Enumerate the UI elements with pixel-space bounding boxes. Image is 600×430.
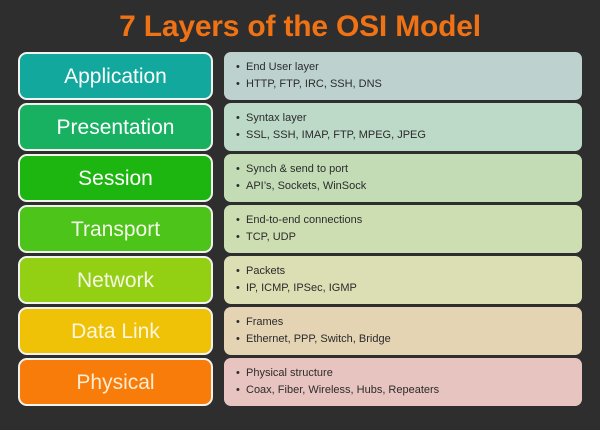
layer-bullet-text: IP, ICMP, IPSec, IGMP [246,282,357,296]
bullet-dot-icon: • [236,214,246,228]
layer-spacer [213,256,224,304]
layer-bullet: •End-to-end connections [236,214,572,228]
layer-description-panel: •Syntax layer•SSL, SSH, IMAP, FTP, MPEG,… [224,103,582,151]
osi-layer-row: Transport•End-to-end connections•TCP, UD… [18,205,582,253]
layer-name-box-network[interactable]: Network [18,256,213,304]
osi-layer-row: Presentation•Syntax layer•SSL, SSH, IMAP… [18,103,582,151]
layer-bullet-text: End-to-end connections [246,214,362,228]
layer-description-panel: •End-to-end connections•TCP, UDP [224,205,582,253]
layer-name-box-application[interactable]: Application [18,52,213,100]
layer-spacer [213,205,224,253]
layer-name-box-session[interactable]: Session [18,154,213,202]
layer-bullet-text: Syntax layer [246,112,307,126]
layer-name-box-presentation[interactable]: Presentation [18,103,213,151]
layer-name-label: Physical [76,372,154,393]
osi-layer-row: Session•Synch & send to port•API’s, Sock… [18,154,582,202]
layer-name-label: Session [78,168,153,189]
layer-name-label: Application [64,66,167,87]
osi-layer-row: Application•End User layer•HTTP, FTP, IR… [18,52,582,100]
layer-name-label: Transport [71,219,160,240]
layer-name-box-data-link[interactable]: Data Link [18,307,213,355]
layer-bullet-text: API’s, Sockets, WinSock [246,180,366,194]
bullet-dot-icon: • [236,282,246,296]
layer-bullet-text: Synch & send to port [246,163,348,177]
bullet-dot-icon: • [236,384,246,398]
layer-description-panel: •End User layer•HTTP, FTP, IRC, SSH, DNS [224,52,582,100]
layer-name-label: Data Link [71,321,160,342]
bullet-dot-icon: • [236,316,246,330]
layer-name-box-transport[interactable]: Transport [18,205,213,253]
osi-model-poster: 7 Layers of the OSI Model Application•En… [0,0,600,430]
osi-layer-row: Physical•Physical structure•Coax, Fiber,… [18,358,582,406]
layer-description-panel: •Synch & send to port•API’s, Sockets, Wi… [224,154,582,202]
layer-bullet-text: Coax, Fiber, Wireless, Hubs, Repeaters [246,384,439,398]
layer-bullet: •TCP, UDP [236,231,572,245]
layer-bullet-text: Frames [246,316,283,330]
layer-bullet: •End User layer [236,61,572,75]
bullet-dot-icon: • [236,180,246,194]
layer-spacer [213,307,224,355]
layer-description-panel: •Packets•IP, ICMP, IPSec, IGMP [224,256,582,304]
layer-bullet: •Packets [236,265,572,279]
bullet-dot-icon: • [236,78,246,92]
layer-bullet-text: End User layer [246,61,319,75]
bullet-dot-icon: • [236,163,246,177]
layer-name-label: Presentation [57,117,175,138]
layer-bullet: •Ethernet, PPP, Switch, Bridge [236,333,572,347]
bullet-dot-icon: • [236,61,246,75]
layer-bullet: •API’s, Sockets, WinSock [236,180,572,194]
layer-bullet: •Synch & send to port [236,163,572,177]
layer-bullet-text: Ethernet, PPP, Switch, Bridge [246,333,391,347]
layer-bullet: •Syntax layer [236,112,572,126]
layer-bullet: •SSL, SSH, IMAP, FTP, MPEG, JPEG [236,129,572,143]
layer-name-label: Network [77,270,154,291]
layer-bullet-text: SSL, SSH, IMAP, FTP, MPEG, JPEG [246,129,426,143]
osi-layer-row: Data Link•Frames•Ethernet, PPP, Switch, … [18,307,582,355]
bullet-dot-icon: • [236,112,246,126]
layer-spacer [213,52,224,100]
layer-spacer [213,358,224,406]
layer-bullet: •Coax, Fiber, Wireless, Hubs, Repeaters [236,384,572,398]
layer-bullet-text: HTTP, FTP, IRC, SSH, DNS [246,78,382,92]
layer-spacer [213,103,224,151]
layer-bullet: •Physical structure [236,367,572,381]
bullet-dot-icon: • [236,129,246,143]
bullet-dot-icon: • [236,231,246,245]
layer-bullet: •Frames [236,316,572,330]
page-title: 7 Layers of the OSI Model [0,0,600,42]
layer-bullet: •HTTP, FTP, IRC, SSH, DNS [236,78,572,92]
layer-spacer [213,154,224,202]
bullet-dot-icon: • [236,265,246,279]
bullet-dot-icon: • [236,367,246,381]
osi-layer-list: Application•End User layer•HTTP, FTP, IR… [0,52,600,406]
layer-bullet-text: TCP, UDP [246,231,296,245]
osi-layer-row: Network•Packets•IP, ICMP, IPSec, IGMP [18,256,582,304]
layer-name-box-physical[interactable]: Physical [18,358,213,406]
layer-bullet: •IP, ICMP, IPSec, IGMP [236,282,572,296]
layer-description-panel: •Frames•Ethernet, PPP, Switch, Bridge [224,307,582,355]
bullet-dot-icon: • [236,333,246,347]
layer-description-panel: •Physical structure•Coax, Fiber, Wireles… [224,358,582,406]
layer-bullet-text: Packets [246,265,285,279]
layer-bullet-text: Physical structure [246,367,333,381]
